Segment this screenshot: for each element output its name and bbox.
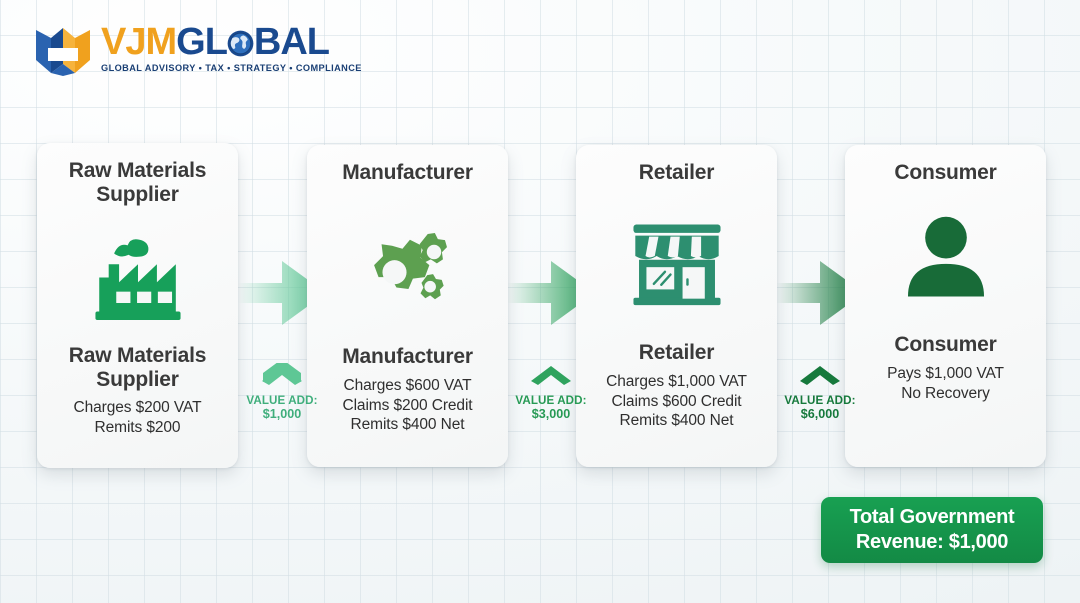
value-add-amount: $6,000 <box>766 407 874 422</box>
storefront-icon <box>626 219 728 307</box>
card-name: Consumer <box>894 333 996 357</box>
value-add-amount: $1,000 <box>228 407 336 422</box>
value-add-amount: $3,000 <box>497 407 605 422</box>
value-add-3: VALUE ADD: $6,000 <box>766 363 874 422</box>
factory-icon <box>86 232 190 322</box>
card-detail-lines: Pays $1,000 VATNo Recovery <box>887 364 1004 404</box>
flow-card-retailer[interactable]: Retailer <box>576 145 777 467</box>
card-detail-lines: Charges $200 VATRemits $200 <box>74 398 202 438</box>
card-name: Manufacturer <box>342 345 473 369</box>
chevron-up-icon <box>766 363 874 390</box>
gears-icon <box>355 219 461 311</box>
value-add-1: VALUE ADD: $1,000 <box>228 363 336 422</box>
card-detail-lines: Charges $600 VATClaims $200 CreditRemits… <box>342 376 472 435</box>
vat-flow-diagram: Raw MaterialsSupplier Raw MaterialsSuppl… <box>0 0 1080 603</box>
card-name: Retailer <box>639 341 714 365</box>
value-add-2: VALUE ADD: $3,000 <box>497 363 605 422</box>
card-name: Raw MaterialsSupplier <box>69 344 206 393</box>
total-line-1: Total Government <box>850 506 1015 528</box>
chevron-up-icon <box>497 363 605 390</box>
card-top-title: Manufacturer <box>342 161 473 185</box>
total-government-revenue-badge: Total Government Revenue: $1,000 <box>821 497 1043 563</box>
chevron-up-icon <box>228 363 336 390</box>
flow-card-consumer[interactable]: Consumer Consumer Pays $1,000 VATNo Reco… <box>845 145 1046 467</box>
person-icon <box>896 215 996 301</box>
value-add-label: VALUE ADD: <box>228 394 336 407</box>
value-add-label: VALUE ADD: <box>497 394 605 407</box>
value-add-label: VALUE ADD: <box>766 394 874 407</box>
card-top-title: Consumer <box>894 161 996 185</box>
card-top-title: Retailer <box>639 161 714 185</box>
card-detail-lines: Charges $1,000 VATClaims $600 CreditRemi… <box>606 372 747 431</box>
card-top-title: Raw MaterialsSupplier <box>69 159 206 208</box>
total-line-2: Revenue: $1,000 <box>856 531 1008 553</box>
flow-card-manufacturer[interactable]: Manufacturer Manufacturer Charges $600 V… <box>307 145 508 467</box>
flow-card-raw-materials-supplier[interactable]: Raw MaterialsSupplier Raw MaterialsSuppl… <box>37 143 238 468</box>
